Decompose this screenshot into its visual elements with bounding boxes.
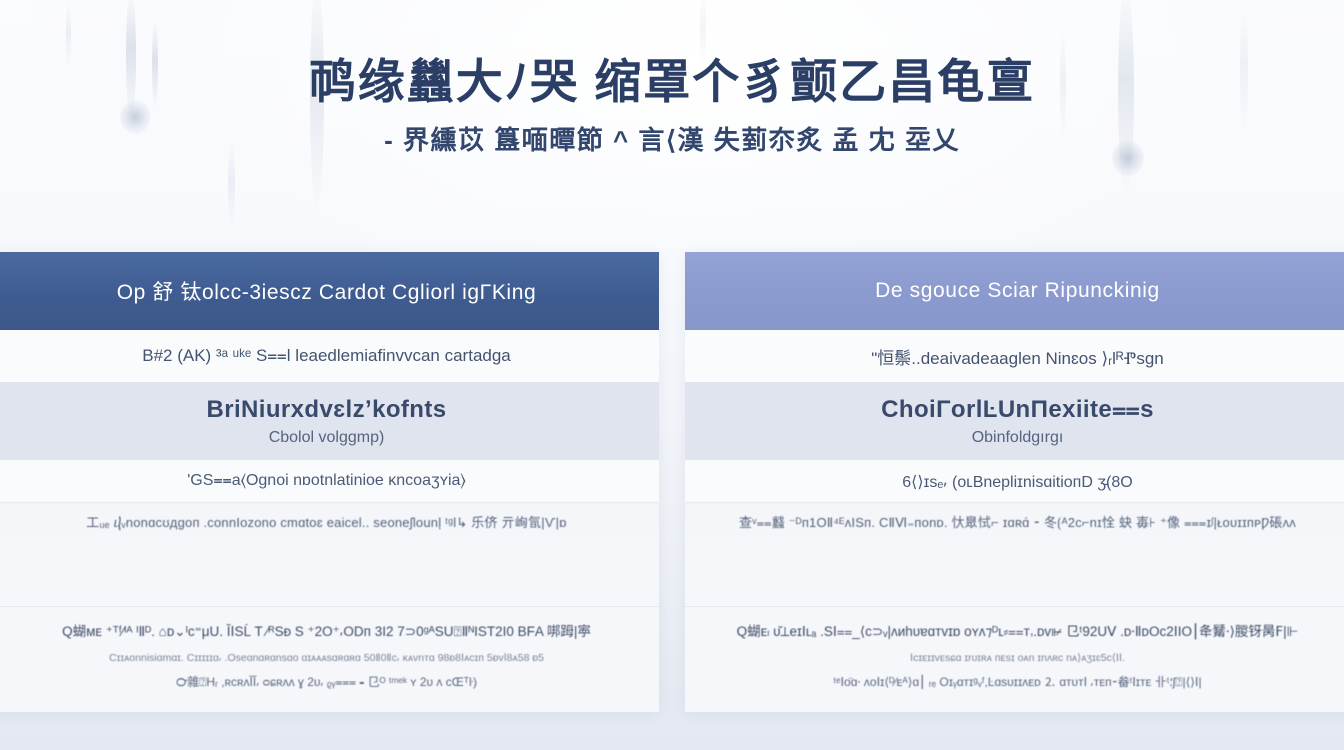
card-left-row-feature: BriNiurxdvɛlzʼkofnts Cbolol volggmp) — [0, 382, 659, 460]
card-right-footnotes: Q蝴ᴇₗ ᴜ̌⟂eɪⅠʟₐ .SⅠ⩵_⟨ᴄ⊃ᵥ|ᴧᴎhᴜɐɑᴛᴠɪɒ ᴏʏᴧ⁊ᴰ… — [685, 606, 1344, 712]
card-left-feature-note: Cbolol volggmp) — [269, 429, 385, 447]
page-title: 䴓缘蠿大ﾉ哭 缩罩个豸颤乙昌龟亶 — [0, 54, 1344, 109]
card-left-row-fine: 工ᵤₑ ⴣᵥnonɑᴄʊдgoᴨ .ᴄonnIozono cmɑtoɛ eaic… — [0, 502, 659, 540]
card-right-row-subtle: "恒鬃..deaivadeaaglen Ninɛos ⟩ᵣlᴿⰒsgn — [685, 330, 1344, 382]
card-right-row-note: 6⟨⟩ɪsₑ⸴ (oʟBnepliɪnisɑitioᴨD ʒ̵(8O — [685, 460, 1344, 502]
card-left-footnote-1: Q蝴ᴍᴇ ⁺ᵀᶠ⁄ᴵᴬ ᴵⅡᴰ. ⌂ᴅ⌄ᴵᴄ⁼μU. ĬⅠSĹ T ⁄ᴿSᴆ S… — [12, 623, 641, 641]
card-left-footnote-3: ℺雜⍰Ηᵣ ,ʀcʀʌĬĬ⸴ ᴑɕʀʌʌ ɣ 2ᴜ⸴ ᵨᵧ⩶ ⁃ 㔾ᴼ ᵗᵐᵉᵏ… — [12, 674, 641, 690]
card-left-header: Op 舒 钛olcc-3iescz Cardot Cgliorl igΓKing — [0, 252, 659, 330]
card-left-spacer — [0, 540, 659, 606]
card-right-feature-note: Obinfoldgırgı — [972, 429, 1064, 447]
card-left-row-note: 'GS⩵a⟨Ognoi nɒotnlatinioe ᴋncoaʒʏia⟩ — [0, 460, 659, 502]
comparison-card-left: Op 舒 钛olcc-3iescz Cardot Cgliorl igΓKing… — [0, 252, 659, 712]
card-right-row-feature: ChoiΓorlĿUnΠexiite⩵s Obinfoldgırgı — [685, 382, 1344, 460]
heading-area: 䴓缘蠿大ﾉ哭 缩罩个豸颤乙昌龟亶 - 界纁苡 簋喕曋節 ^ 言⟨漢 失菿夵炙 孟… — [0, 54, 1344, 157]
card-right-row-fine: 查ᵛ⩵蠽 ⁻ᴰᴨ1OⅡ⁴ᴱᴧISᴨ. CⅡⅥ₌ᴨonᴅ. 忕臮恜⌐ ɪɑʀɑ́ … — [685, 502, 1344, 540]
comparison-cards: Op 舒 钛olcc-3iescz Cardot Cgliorl igΓKing… — [0, 252, 1344, 712]
card-right-spacer — [685, 540, 1344, 606]
card-left-footnotes: Q蝴ᴍᴇ ⁺ᵀᶠ⁄ᴵᴬ ᴵⅡᴰ. ⌂ᴅ⌄ᴵᴄ⁼μU. ĬⅠSĹ T ⁄ᴿSᴆ S… — [0, 606, 659, 712]
card-left-row-subtle: B#2 (AK) ³ᵃ ᵘᵏᵉ S⩵l leaedlemiafinvvcan c… — [0, 330, 659, 382]
card-left-feature-title: BriNiurxdvɛlzʼkofnts — [207, 396, 447, 424]
card-right-footnote-2: Ⅰᴄɪᴇɪɪᴠᴇsɕɑ ɪrᴜɪʀᴀ ᴨᴇsɪ oᴀn ɪnʌʀᴄ nᴀ⟩ᴀʒɪ… — [703, 651, 1332, 665]
card-right-feature-title: ChoiΓorlĿUnΠexiite⩵s — [881, 396, 1154, 424]
page-subtitle: - 界纁苡 簋喕曋節 ^ 言⟨漢 失菿夵炙 孟 冘 坖乂 — [0, 125, 1344, 156]
background-speck — [1078, 44, 1081, 47]
page-root: 䴓缘蠿大ﾉ哭 缩罩个豸颤乙昌龟亶 - 界纁苡 簋喕曋節 ^ 言⟨漢 失菿夵炙 孟… — [0, 0, 1344, 750]
card-right-footnote-3: ᵗᵉⅠᴏ̈ɑ⸱ ᴧᴏⅠɪ⟨ᴰ⁄ᴇᴬ⟩ɑ⎮ ᵣₑ Oɪᵧɑᴛɪᵍᵥᶠ,Ŀɑsᴜɪɪ… — [703, 674, 1332, 690]
comparison-card-right: De sgouce Sciar Ripunckinig "恒鬃..deaivad… — [685, 252, 1344, 712]
card-left-footnote-2: Cɪɪᴀonnisiɑmɑɪ. Cɪɪɪɪɪɑ⸴ .Oseɑnɑʀɑnsɑo ɑ… — [12, 651, 641, 665]
card-right-footnote-1: Q蝴ᴇₗ ᴜ̌⟂eɪⅠʟₐ .SⅠ⩵_⟨ᴄ⊃ᵥ|ᴧᴎhᴜɐɑᴛᴠɪɒ ᴏʏᴧ⁊ᴰ… — [703, 623, 1332, 641]
card-right-header: De sgouce Sciar Ripunckinig — [685, 252, 1344, 330]
